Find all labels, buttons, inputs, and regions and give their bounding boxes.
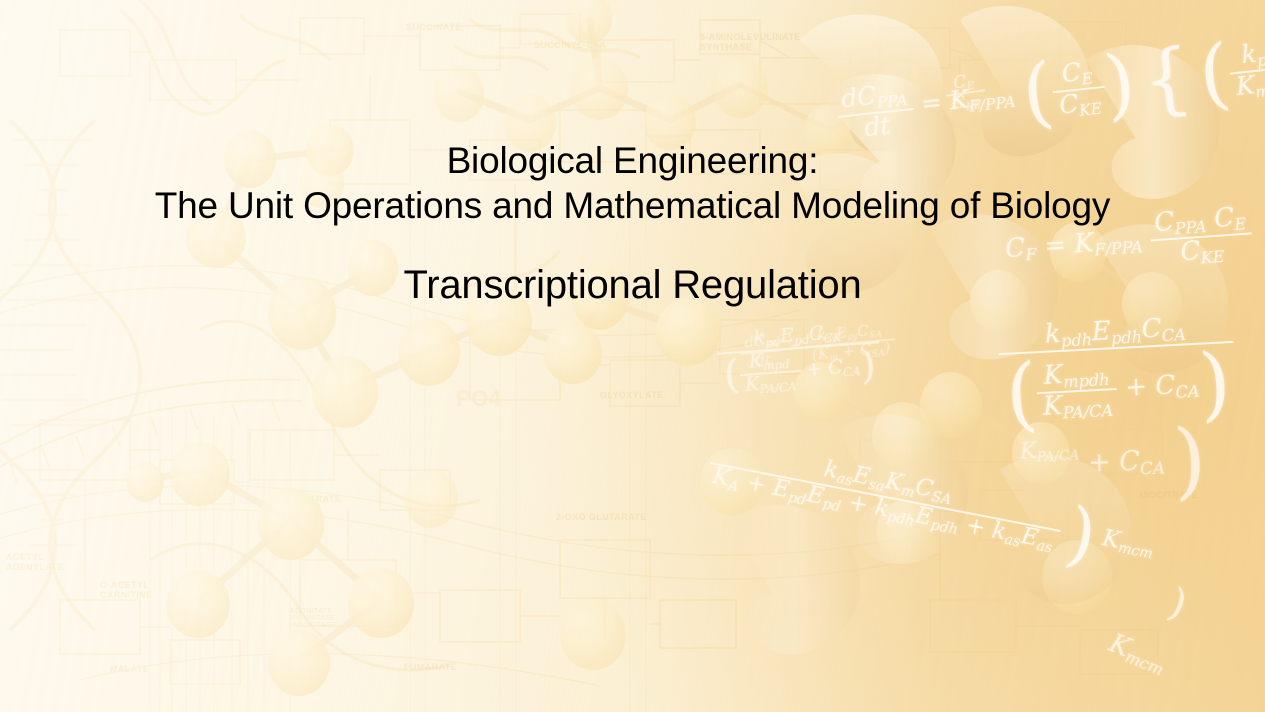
pathway-label: FUMARATE — [404, 662, 457, 672]
molecule-atom — [560, 600, 626, 670]
slide-subtitle: Transcriptional Regulation — [0, 261, 1265, 309]
pathway-label: SUCCINYL-CoA — [534, 40, 606, 50]
dna-helix-graphic — [0, 0, 1265, 712]
equation-dcsa-dt: dCSAdt = ksyEsyCSA(Km + CSA) — [739, 321, 896, 370]
molecule-atom — [268, 630, 330, 696]
molecule-atom — [566, 0, 612, 44]
equation-cca-tail: + CCA ) — [1087, 418, 1208, 506]
slide-subtitle-block: Transcriptional Regulation — [0, 261, 1265, 309]
pathway-label: ISOCITRATE — [1140, 490, 1198, 500]
molecule-atom — [872, 402, 934, 468]
molecule-atom — [404, 470, 458, 528]
pathway-label: O-ACETYL CARNITINE — [100, 580, 200, 600]
molecule-atom — [794, 362, 850, 422]
equation-kpa-cca: KPA/CA — [1019, 438, 1079, 466]
metabolic-pathway-graphic: SUCCINATE SUCCINYL-CoA 5-AMINOLEVULINATE… — [0, 0, 1265, 712]
equation-bracket-corner: ) — [1164, 583, 1192, 626]
equation-kas-eas-kmcm: kasEsaKmCSA KA + EpdEpd + kpdhEpdh + kas… — [703, 428, 1160, 584]
pathway-label-po4: PO4 — [456, 386, 501, 412]
molecule-atom — [126, 462, 164, 502]
slide-title: Biological Engineering: The Unit Operati… — [0, 138, 1265, 228]
molecule-atom — [312, 356, 378, 428]
kinetic-equations-graphic: dCPPAdt = KF/PPA (CECKE) { (kpdEpdCPAKmp… — [0, 0, 1265, 712]
title-line-1: Biological Engineering: — [0, 138, 1265, 183]
equation-ce-cke-small: CECKE — [943, 72, 987, 116]
molecule-atom — [920, 372, 982, 438]
molecule-atom — [434, 66, 484, 122]
equation-kpd-epd-cck: kpdEpdCCK (KmpdKPA/CA + CCA) — [716, 320, 882, 398]
pathway-label: ACONITATE HYDRATASE (ACONITASE) — [290, 608, 380, 629]
equation-dcppa-dt: dCPPAdt = KF/PPA (CECKE) { (kpdEpdCPAKmp… — [834, 0, 1265, 153]
molecule-atom — [170, 442, 230, 506]
background-base-gradient — [0, 0, 1265, 712]
pathway-label: SUCCINATE — [406, 22, 461, 32]
protein-ribbon-graphic — [0, 0, 1265, 712]
molecule-atom — [1012, 422, 1070, 484]
molecule-atom — [166, 570, 230, 638]
molecule-atom — [348, 568, 414, 638]
molecule-atom — [570, 58, 628, 120]
molecule-atom — [876, 500, 934, 562]
molecule-atom — [398, 318, 460, 386]
molecule-atom — [714, 58, 768, 118]
pathway-label: GLYOXYLATE — [600, 390, 664, 400]
pathway-label: MALATE — [110, 664, 149, 674]
presentation-slide: SUCCINATE SUCCINYL-CoA 5-AMINOLEVULINATE… — [0, 0, 1265, 712]
pathway-label-leu: Leu — [408, 352, 436, 369]
equation-kpdh-epdh: kpdhEpdhCCA (KmpdhKPA/CA + CCA) — [997, 312, 1237, 435]
pathway-label: 2-OXO GLUTARATE — [556, 512, 647, 522]
title-line-2: The Unit Operations and Mathematical Mod… — [0, 183, 1265, 228]
molecule-atom — [700, 448, 764, 516]
molecule-atom — [1042, 540, 1112, 614]
equation-kmcm-corner: Kmcm — [1105, 630, 1170, 679]
pathway-label: CITRATE — [300, 494, 341, 504]
molecule-atom — [258, 488, 324, 560]
molecule-atom — [544, 322, 602, 384]
pathway-label: 5-AMINOLEVULINATE SYNTHASE — [700, 32, 820, 52]
background-haze-overlay — [0, 0, 1265, 712]
molecule-model-graphic — [0, 0, 1265, 712]
molecule-atom — [874, 62, 926, 120]
pathway-label: ACETYL ADENYLATE — [6, 552, 102, 572]
